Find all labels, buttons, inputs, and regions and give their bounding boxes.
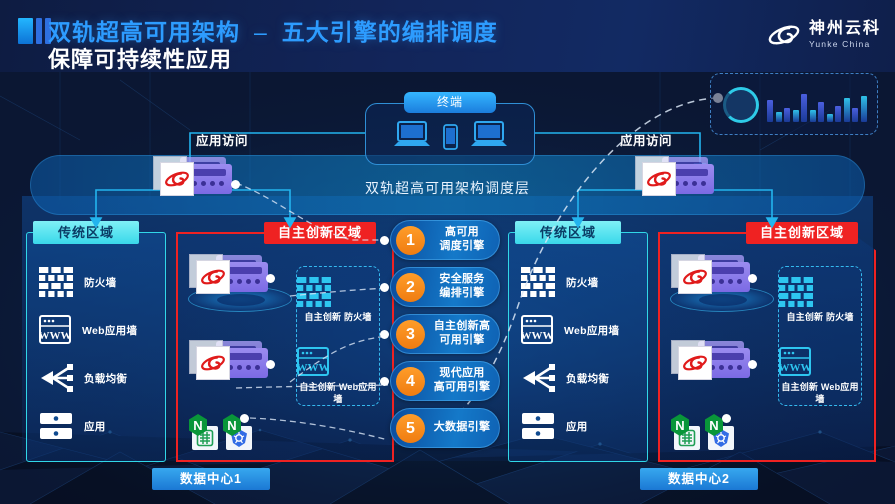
bar (776, 112, 782, 122)
bar (852, 108, 858, 122)
engine-connector-dot (380, 283, 389, 292)
bar (818, 102, 824, 122)
terminal-label: 终端 (404, 92, 496, 113)
logo-card (642, 162, 676, 196)
brand-swirl-icon (164, 168, 190, 190)
tablet-icon (443, 124, 458, 150)
bar-chart (767, 82, 867, 122)
engine-item-5[interactable]: 5大数据引擎 (390, 408, 500, 448)
datacenter-1-tag: 数据中心1 (152, 468, 270, 490)
bar (801, 94, 807, 122)
engine-list: 1高可用 调度引擎2安全服务 编排引擎3自主创新高 可用引擎4现代应用 高可用引… (390, 220, 502, 455)
engine-number: 1 (396, 226, 425, 255)
engine-label: 高可用 调度引擎 (425, 226, 499, 254)
engine-connector-dot (380, 236, 389, 245)
bar (844, 98, 850, 122)
page-header: 双轨超高可用架构–五大引擎的编排调度 保障可持续性应用 神州云科 Yunke C… (0, 0, 895, 72)
engine-number: 4 (396, 367, 425, 396)
architecture-diagram: 双轨超高可用架构调度层 双轨超高可用架构–五大引擎的编排调度 保障可持续性应用 … (0, 0, 895, 504)
laptop-icon (392, 120, 432, 150)
datacenter-2-tag: 数据中心2 (640, 468, 758, 490)
engine-connector-dot (380, 377, 389, 386)
connector-node (231, 180, 240, 189)
header-accent-bars (18, 18, 51, 44)
page-title-dash: – (240, 19, 282, 45)
access-label-left: 应用访问 (196, 130, 248, 149)
logo-name-en: Yunke China (809, 40, 881, 49)
engine-number: 5 (396, 414, 425, 443)
bar (827, 114, 833, 122)
engine-item-4[interactable]: 4现代应用 高可用引擎 (390, 361, 500, 401)
access-label-right: 应用访问 (620, 130, 672, 149)
engine-connector-dot (380, 330, 389, 339)
server-stack (642, 160, 714, 200)
bar (861, 96, 867, 122)
logo-card (160, 162, 194, 196)
bar (835, 106, 841, 122)
bar (793, 110, 799, 122)
bar (767, 100, 773, 122)
logo-name-cn: 神州云科 (809, 21, 881, 37)
bar (784, 108, 790, 122)
engine-number: 3 (396, 320, 425, 349)
engine-label: 现代应用 高可用引擎 (425, 367, 499, 395)
engine-item-3[interactable]: 3自主创新高 可用引擎 (390, 314, 500, 354)
ring-chart-icon (723, 87, 759, 123)
laptop-icon (469, 120, 509, 150)
engine-label: 自主创新高 可用引擎 (425, 320, 499, 348)
bar (810, 110, 816, 122)
engine-number: 2 (396, 273, 425, 302)
engine-item-1[interactable]: 1高可用 调度引擎 (390, 220, 500, 260)
engine-label: 安全服务 编排引擎 (425, 273, 499, 301)
logo-swirl-icon (767, 20, 801, 50)
engine-item-2[interactable]: 2安全服务 编排引擎 (390, 267, 500, 307)
page-title-sub: 五大引擎的编排调度 (282, 19, 498, 45)
brand-swirl-icon (646, 168, 672, 190)
monitoring-widget[interactable] (710, 73, 878, 135)
engine-label: 大数据引擎 (425, 421, 499, 435)
company-logo: 神州云科 Yunke China (767, 20, 881, 50)
server-stack (160, 160, 232, 200)
page-subtitle: 保障可持续性应用 (48, 42, 232, 74)
